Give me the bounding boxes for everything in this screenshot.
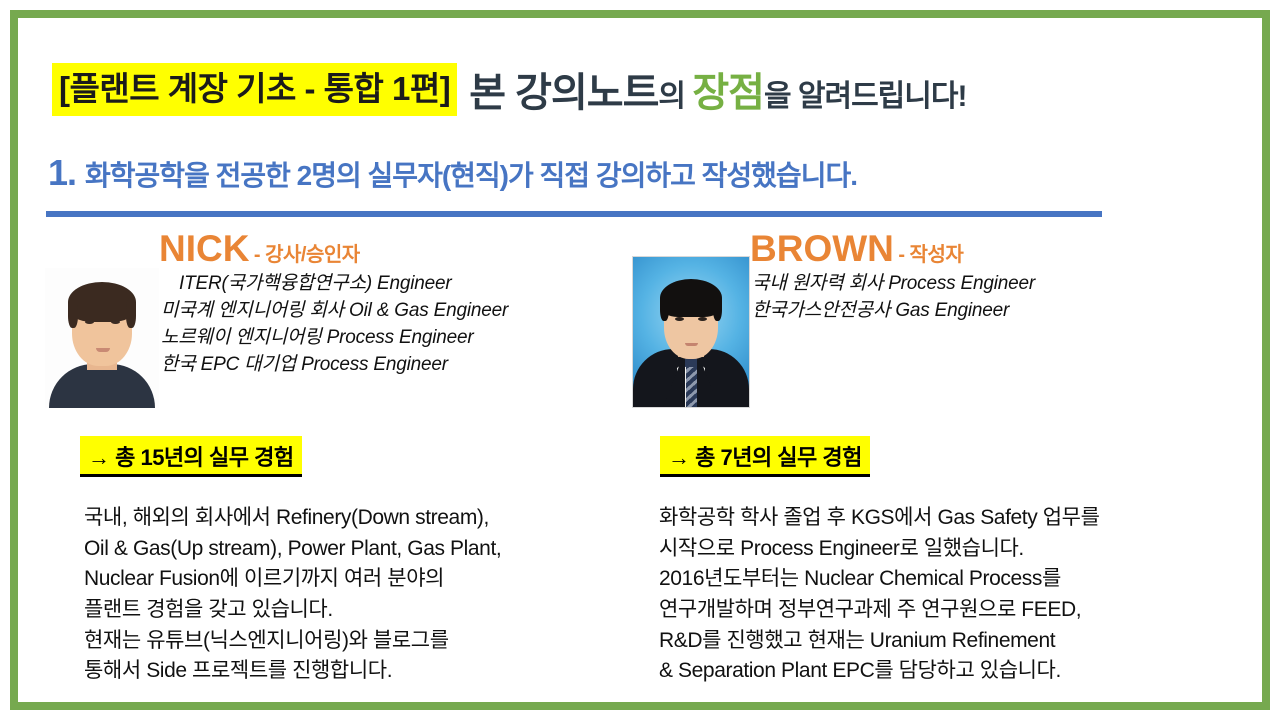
page-title: 본 강의노트의 장점을 알려드립니다! xyxy=(469,60,966,118)
nick-experience-badge: → 총 15년의 실무 경험 xyxy=(80,436,302,477)
brown-description-line: 시작으로 Process Engineer로 일했습니다. xyxy=(659,534,1100,565)
nick-bio: ITER(국가핵융합연구소) Engineer 미국계 엔지니어링 회사 Oil… xyxy=(161,271,640,379)
nick-description-line: 플랜트 경험을 갖고 있습니다. xyxy=(84,595,501,626)
photo-eye-left xyxy=(85,320,94,324)
brown-bio: 국내 원자력 회사 Process Engineer 한국가스안전공사 Gas … xyxy=(752,271,1240,325)
nick-name: NICK xyxy=(159,228,249,269)
photo-tie-knot xyxy=(684,358,699,367)
person-header-nick: NICK - 강사/승인자 ITER(국가핵융합연구소) Engineer 미국… xyxy=(40,230,640,408)
brown-text-block: BROWN - 작성자 국내 원자력 회사 Process Engineer 한… xyxy=(750,230,1240,325)
brown-bio-line: 한국가스안전공사 Gas Engineer xyxy=(752,298,1240,325)
brown-description-line: & Separation Plant EPC를 담당하고 있습니다. xyxy=(659,656,1100,687)
nick-description-line: 국내, 해외의 회사에서 Refinery(Down stream), xyxy=(84,503,501,534)
photo-eye-left xyxy=(675,317,684,321)
lecture-tag-badge: [플랜트 계장 기초 - 통합 1편] xyxy=(52,63,457,116)
slide-title-row: [플랜트 계장 기초 - 통합 1편] 본 강의노트의 장점을 알려드립니다! xyxy=(52,58,1232,120)
photo-mouth xyxy=(96,348,110,352)
photo-tie xyxy=(686,365,697,407)
subtitle-line: 1. 화학공학을 전공한 2명의 실무자(현직)가 직접 강의하고 작성했습니다… xyxy=(48,152,1148,202)
photo-mouth xyxy=(685,343,698,346)
title-segment-2: 의 xyxy=(658,80,692,113)
nick-bio-line: ITER(국가핵융합연구소) Engineer xyxy=(161,271,452,298)
nick-portrait-photo xyxy=(45,268,159,408)
nick-description-line: Oil & Gas(Up stream), Power Plant, Gas P… xyxy=(84,534,501,565)
brown-bio-line: 국내 원자력 회사 Process Engineer xyxy=(752,271,1240,298)
title-highlight-word: 장점 xyxy=(692,71,764,115)
brown-description-line: R&D를 진행했고 현재는 Uranium Refinement xyxy=(659,626,1100,657)
presentation-slide: [플랜트 계장 기초 - 통합 1편] 본 강의노트의 장점을 알려드립니다! … xyxy=(0,0,1280,720)
title-segment-1: 본 강의노트 xyxy=(469,71,658,115)
nick-text-block: NICK - 강사/승인자 ITER(국가핵융합연구소) Engineer 미국… xyxy=(159,230,640,379)
brown-portrait-photo xyxy=(632,256,750,408)
photo-hair-left xyxy=(68,298,78,328)
person-header-brown: BROWN - 작성자 국내 원자력 회사 Process Engineer 한… xyxy=(625,230,1240,408)
photo-eye-right xyxy=(111,320,120,324)
nick-role: - 강사/승인자 xyxy=(254,244,360,266)
photo-hair-right xyxy=(713,293,722,321)
brown-description-line: 화학공학 학사 졸업 후 KGS에서 Gas Safety 업무를 xyxy=(659,503,1100,534)
nick-name-line: NICK - 강사/승인자 xyxy=(159,230,640,267)
photo-eye-right xyxy=(698,317,707,321)
person-column-nick: NICK - 강사/승인자 ITER(국가핵융합연구소) Engineer 미국… xyxy=(40,230,640,408)
brown-description-line: 연구개발하며 정부연구과제 주 연구원으로 FEED, xyxy=(659,595,1100,626)
nick-description-line: 현재는 유튜브(닉스엔지니어링)와 블로그를 xyxy=(84,626,501,657)
brown-name-line: BROWN - 작성자 xyxy=(750,230,1240,267)
photo-hair-left xyxy=(660,293,669,321)
brown-description: 화학공학 학사 졸업 후 KGS에서 Gas Safety 업무를 시작으로 P… xyxy=(659,503,1100,687)
brown-name: BROWN xyxy=(750,228,894,269)
brown-role: - 작성자 xyxy=(898,244,963,266)
nick-description-line: Nuclear Fusion에 이르기까지 여러 분야의 xyxy=(84,564,501,595)
nick-description: 국내, 해외의 회사에서 Refinery(Down stream), Oil … xyxy=(84,503,501,687)
subtitle-text: 화학공학을 전공한 2명의 실무자(현직)가 직접 강의하고 작성했습니다. xyxy=(85,154,857,194)
brown-description-line: 2016년도부터는 Nuclear Chemical Process를 xyxy=(659,564,1100,595)
photo-hair-right xyxy=(126,298,136,328)
header-divider xyxy=(46,211,1102,217)
title-segment-3: 을 알려드립니다! xyxy=(764,80,967,113)
nick-bio-line: 노르웨이 엔지니어링 Process Engineer xyxy=(161,325,640,352)
subtitle-number: 1. xyxy=(48,152,76,194)
brown-experience-wrap: → 총 7년의 실무 경험 xyxy=(660,436,870,477)
nick-experience-wrap: → 총 15년의 실무 경험 xyxy=(80,436,302,477)
nick-bio-line: 한국 EPC 대기업 Process Engineer xyxy=(161,352,640,379)
nick-bio-line: 미국계 엔지니어링 회사 Oil & Gas Engineer xyxy=(161,298,640,325)
nick-description-line: 통해서 Side 프로젝트를 진행합니다. xyxy=(84,656,501,687)
brown-experience-badge: → 총 7년의 실무 경험 xyxy=(660,436,870,477)
person-column-brown: BROWN - 작성자 국내 원자력 회사 Process Engineer 한… xyxy=(625,230,1240,408)
